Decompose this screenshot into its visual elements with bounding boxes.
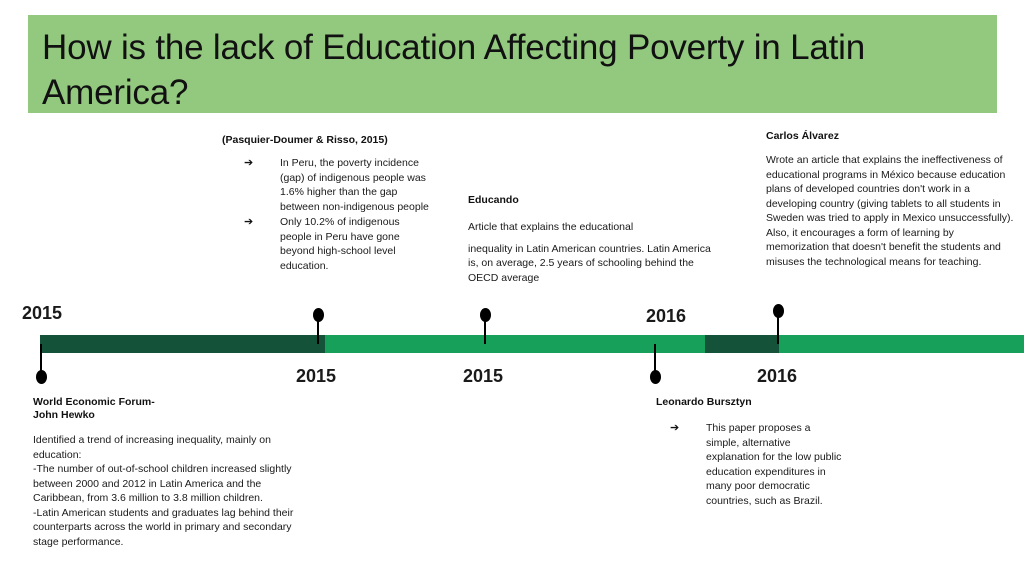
note-world-economic-forum: World Economic Forum- John Hewko Identif… — [33, 396, 295, 549]
note-pasquier-bullets: ➔ In Peru, the poverty incidence (gap) o… — [222, 156, 434, 273]
note-carlos-title: Carlos Álvarez — [766, 130, 1018, 143]
note-wef-body: Identified a trend of increasing inequal… — [33, 433, 295, 549]
list-item-text: Only 10.2% of indigenous people in Peru … — [280, 216, 400, 272]
page-title: How is the lack of Education Affecting P… — [42, 25, 981, 115]
timeline-marker-wef[interactable] — [35, 344, 47, 384]
note-carlos-alvarez: Carlos Álvarez Wrote an article that exp… — [766, 130, 1018, 269]
note-pasquier-title: (Pasquier-Doumer & Risso, 2015) — [222, 134, 434, 147]
note-carlos-body: Wrote an article that explains the ineff… — [766, 153, 1018, 269]
note-leonardo-bursztyn: Leonardo Bursztyn ➔ This paper proposes … — [656, 396, 846, 509]
note-bursztyn-bullets: ➔ This paper proposes a simple, alternat… — [656, 421, 846, 508]
year-label-2015-second: 2015 — [463, 366, 503, 387]
list-item-text: This paper proposes a simple, alternativ… — [706, 422, 841, 507]
note-pasquier-doumer: (Pasquier-Doumer & Risso, 2015) ➔ In Per… — [222, 134, 434, 274]
list-item: ➔ Only 10.2% of indigenous people in Per… — [222, 215, 434, 273]
note-educando-body-line1: Article that explains the educational — [468, 220, 718, 235]
timeline-marker-carlos[interactable] — [772, 304, 784, 344]
list-item: ➔ In Peru, the poverty incidence (gap) o… — [222, 156, 434, 214]
title-banner: How is the lack of Education Affecting P… — [28, 15, 997, 113]
marker-dot — [313, 308, 324, 322]
marker-dot — [480, 308, 491, 322]
timeline-marker-bursztyn[interactable] — [649, 344, 661, 384]
note-wef-title: World Economic Forum- John Hewko — [33, 396, 295, 422]
marker-dot — [36, 370, 47, 384]
marker-dot — [773, 304, 784, 318]
year-label-2016-above: 2016 — [646, 306, 686, 327]
year-label-2016-below: 2016 — [757, 366, 797, 387]
arrow-icon: ➔ — [670, 421, 679, 436]
timeline-segment-dark-2 — [705, 335, 779, 353]
note-educando-title: Educando — [468, 194, 718, 207]
note-educando-body-line2: inequality in Latin American countries. … — [468, 242, 718, 286]
list-item-text: In Peru, the poverty incidence (gap) of … — [280, 157, 429, 213]
arrow-icon: ➔ — [244, 156, 253, 171]
note-educando: Educando Article that explains the educa… — [468, 194, 718, 285]
timeline-marker-educando[interactable] — [479, 308, 491, 344]
timeline-segment-dark-1 — [40, 335, 325, 353]
timeline-bar — [40, 335, 1024, 353]
note-bursztyn-title: Leonardo Bursztyn — [656, 396, 846, 409]
list-item: ➔ This paper proposes a simple, alternat… — [656, 421, 846, 508]
year-label-2015-start: 2015 — [22, 303, 62, 324]
year-label-2015-first: 2015 — [296, 366, 336, 387]
marker-dot — [650, 370, 661, 384]
arrow-icon: ➔ — [244, 215, 253, 230]
timeline-marker-pasquier[interactable] — [312, 308, 324, 344]
